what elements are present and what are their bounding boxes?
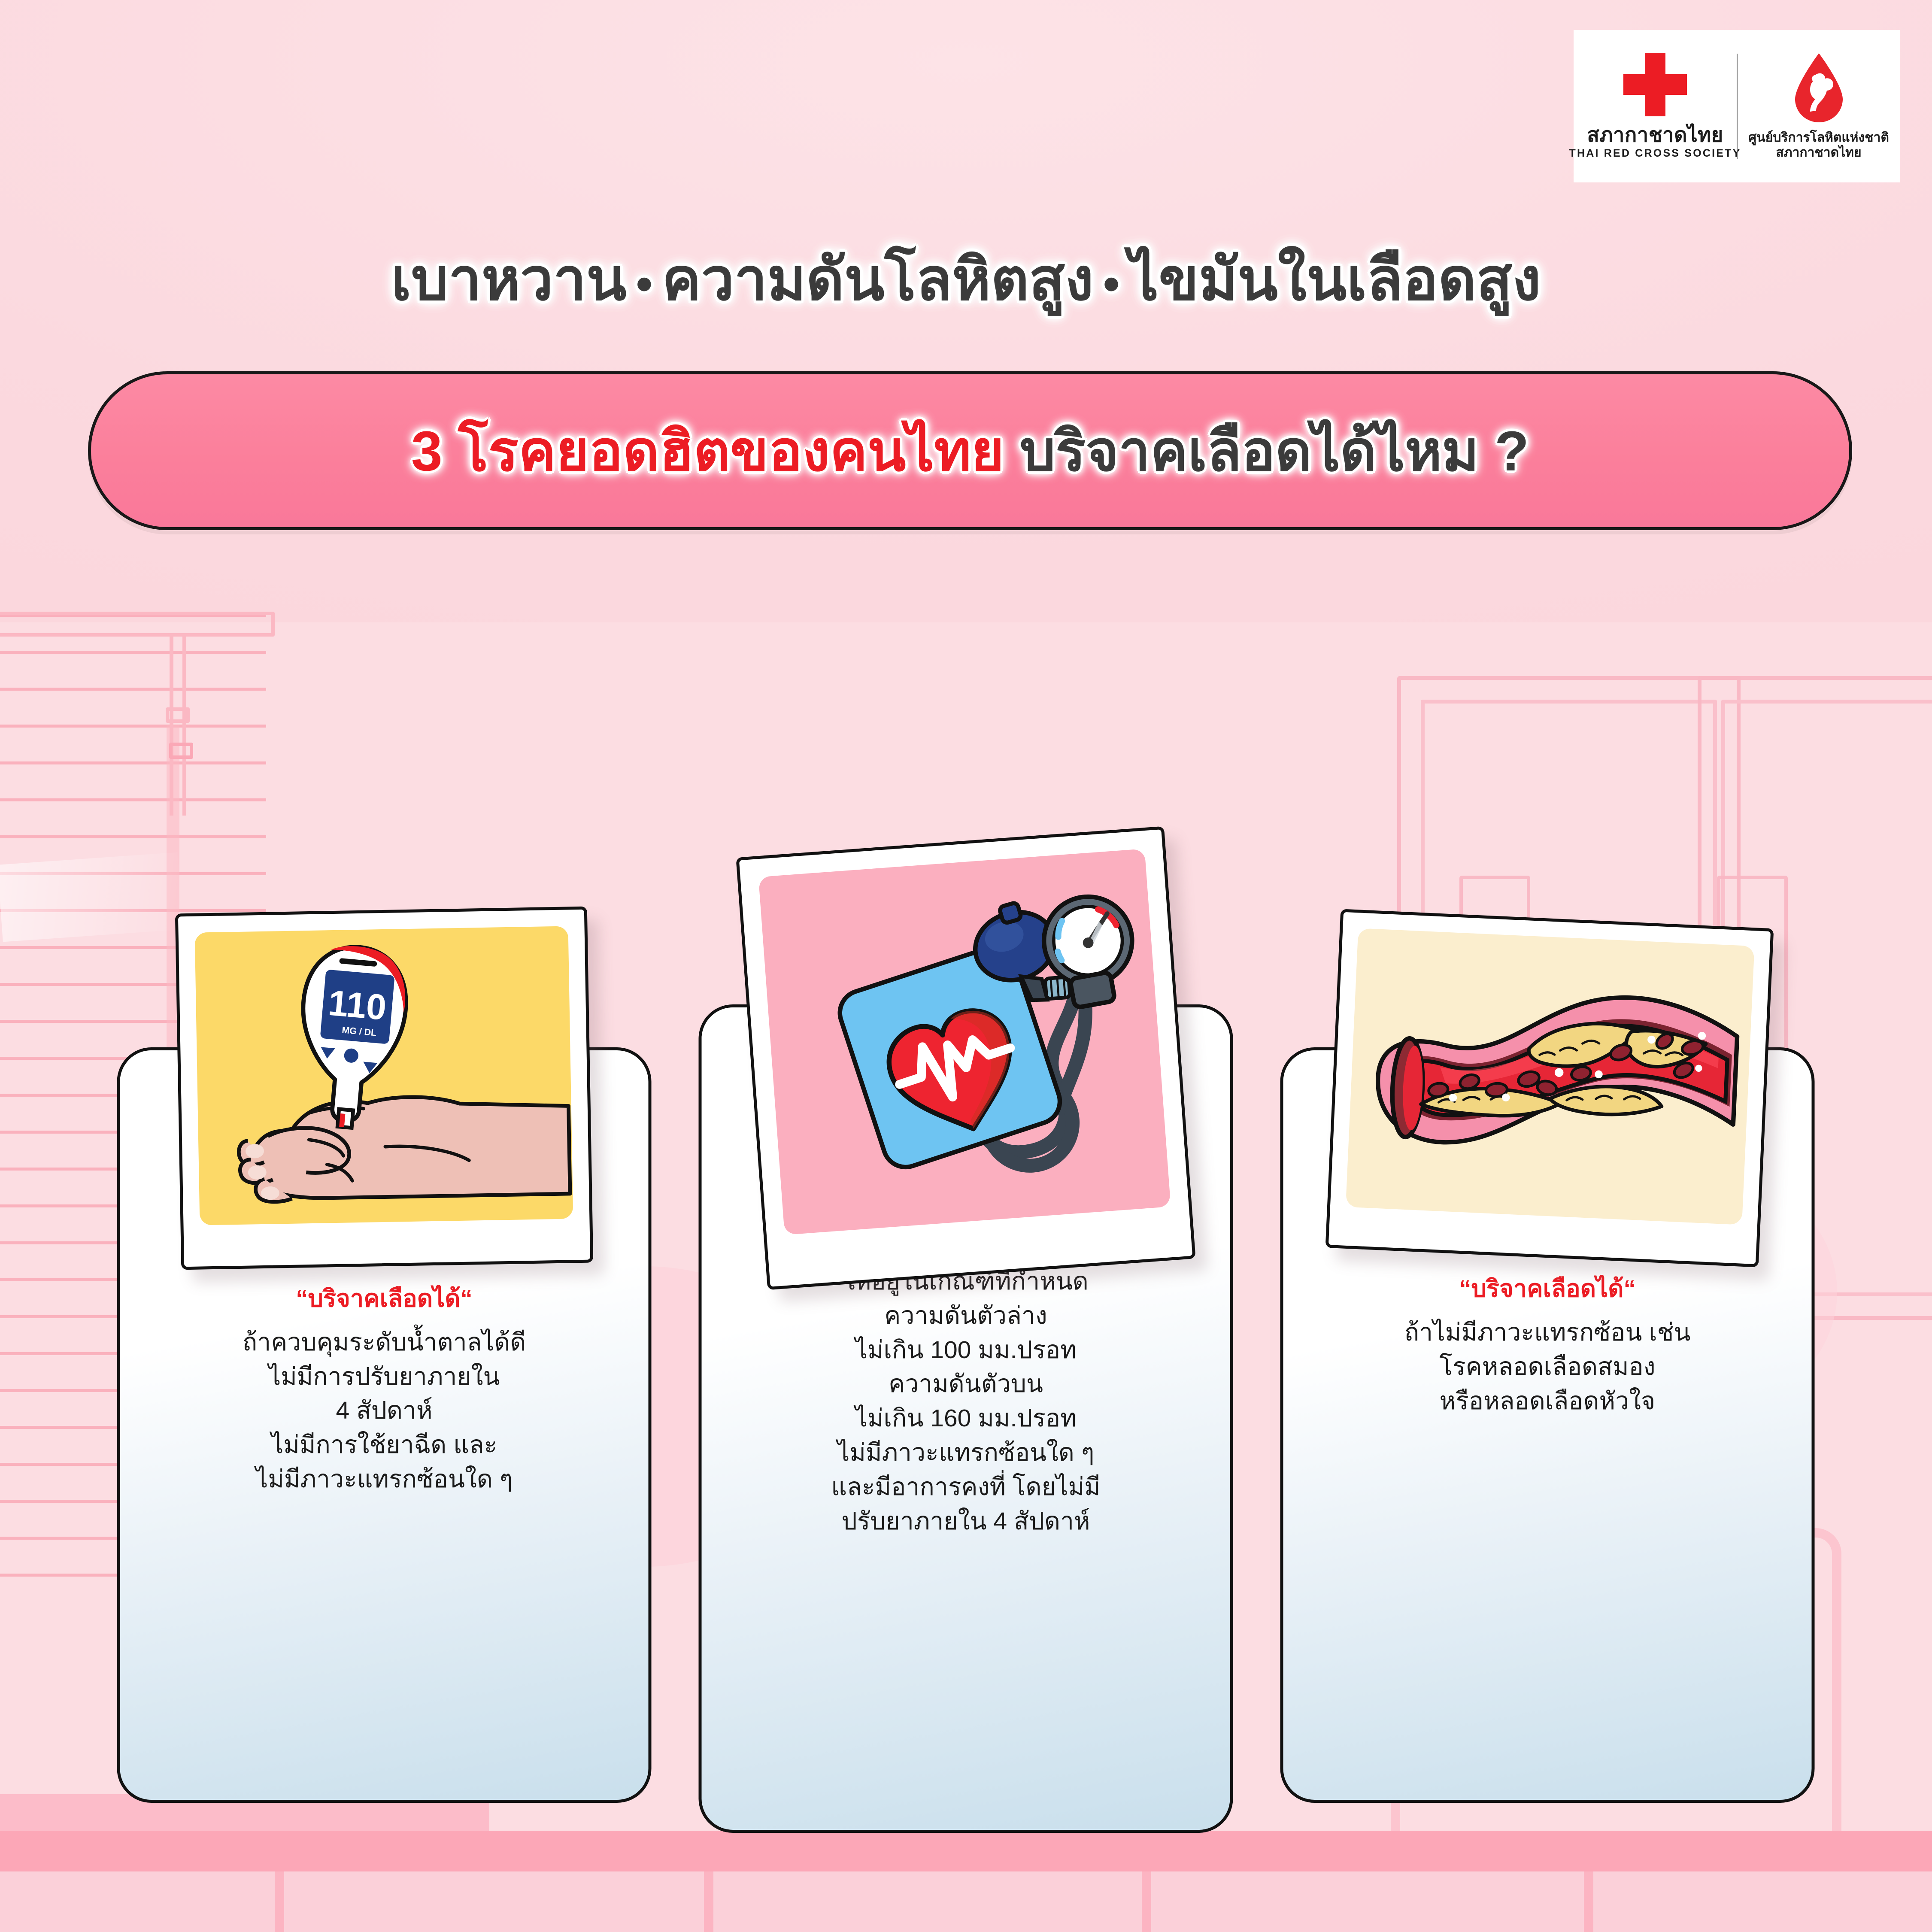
card-hypertension: โรคความดันโลหิตสูง “บริจาคเลือดได้“ ถ้าค…: [687, 644, 1245, 1889]
blood-centre-name-line2: สภากาชาดไทย: [1776, 145, 1861, 160]
list-item: ปรับยาภายใน 4 สัปดาห์: [728, 1504, 1204, 1539]
blood-centre-name-line1: ศูนย์บริการโลหิตแห่งชาติ: [1748, 130, 1889, 145]
card-hyperlipidemia: โรคไขมันในเลือดสูง “บริจาคเลือดได้“ ถ้าไ…: [1268, 644, 1826, 1889]
banner-text: 3 โรคยอดฮิตของคนไทย บริจาคเลือดได้ไหม ?: [411, 423, 1529, 479]
headline-part-hyperlipidemia: ไขมันในเลือดสูง: [1129, 247, 1541, 312]
photo-glucometer: 110 MG / DL: [175, 907, 593, 1270]
blind-headrail: [0, 612, 275, 637]
banner-dark-text: บริจาคเลือดได้ไหม ?: [1020, 419, 1529, 482]
card-diabetes-subtitle: “บริจาคเลือดได้“: [146, 1284, 623, 1313]
list-item: ความดันตัวล่าง: [728, 1299, 1204, 1333]
list-item: ไม่มีการใช้ยาฉีด และ: [146, 1428, 623, 1462]
thai-red-cross-name-th: สภากาชาดไทย: [1587, 124, 1723, 145]
headline-part-hypertension: ความดันโลหิตสูง: [662, 247, 1094, 312]
page-headline: เบาหวาน•ความดันโลหิตสูง•ไขมันในเลือดสูง: [0, 247, 1932, 312]
organization-logo-badge: สภากาชาดไทย THAI RED CROSS SOCIETY ศูนย์…: [1574, 30, 1900, 182]
list-item: ถ้าไม่มีภาวะแทรกซ้อน เช่น: [1309, 1316, 1786, 1350]
list-item: ความดันตัวบน: [728, 1367, 1204, 1401]
card-diabetes-lines: ถ้าควบคุมระดับน้ำตาลได้ดี ไม่มีการปรับยา…: [146, 1325, 623, 1497]
card-diabetes: โรคเบาหวาน “บริจาคเลือดได้“ ถ้าควบคุมระด…: [105, 644, 663, 1889]
blood-pressure-monitor-icon: [758, 849, 1171, 1235]
list-item: ถ้าควบคุมระดับน้ำตาลได้ดี: [146, 1325, 623, 1360]
list-item: ไม่มีภาวะแทรกซ้อนใด ๆ: [146, 1462, 623, 1497]
list-item: โรคหลอดเลือดสมอง: [1309, 1350, 1786, 1384]
thai-red-cross-logo: สภากาชาดไทย THAI RED CROSS SOCIETY: [1574, 30, 1737, 182]
thai-red-cross-name-en: THAI RED CROSS SOCIETY: [1569, 147, 1741, 160]
red-cross-icon: [1623, 53, 1687, 116]
banner-red-text: 3 โรคยอดฮิตของคนไทย: [411, 419, 1004, 482]
list-item: และมีอาการคงที่ โดยไม่มี: [728, 1470, 1204, 1504]
list-item: ไม่มีภาวะแทรกซ้อนใด ๆ: [728, 1436, 1204, 1470]
disease-cards-row: โรคเบาหวาน “บริจาคเลือดได้“ ถ้าควบคุมระด…: [0, 644, 1932, 1889]
headline-separator-2: •: [1103, 258, 1120, 310]
blood-drop-icon: [1792, 52, 1846, 123]
list-item: หรือหลอดเลือดหัวใจ: [1309, 1384, 1786, 1419]
list-item: ไม่เกิน 100 มม.ปรอท: [728, 1333, 1204, 1368]
list-item: 4 สัปดาห์: [146, 1394, 623, 1428]
card-hyperlipidemia-subtitle: “บริจาคเลือดได้“: [1309, 1274, 1786, 1303]
clogged-artery-icon: [1346, 928, 1755, 1225]
card-hyperlipidemia-lines: ถ้าไม่มีภาวะแทรกซ้อน เช่น โรคหลอดเลือดสม…: [1309, 1316, 1786, 1418]
headline-part-diabetes: เบาหวาน: [391, 247, 627, 312]
photo-artery: [1325, 909, 1774, 1267]
list-item: ไม่เกิน 160 มม.ปรอท: [728, 1401, 1204, 1436]
glucometer-hand-icon: 110 MG / DL: [195, 926, 573, 1225]
national-blood-centre-logo: ศูนย์บริการโลหิตแห่งชาติ สภากาชาดไทย: [1738, 30, 1900, 182]
list-item: ไม่มีการปรับยาภายใน: [146, 1360, 623, 1394]
meter-value: 110: [327, 983, 388, 1028]
photo-blood-pressure: [736, 826, 1195, 1290]
headline-separator-1: •: [636, 258, 653, 310]
question-banner: 3 โรคยอดฮิตของคนไทย บริจาคเลือดได้ไหม ?: [88, 371, 1852, 530]
